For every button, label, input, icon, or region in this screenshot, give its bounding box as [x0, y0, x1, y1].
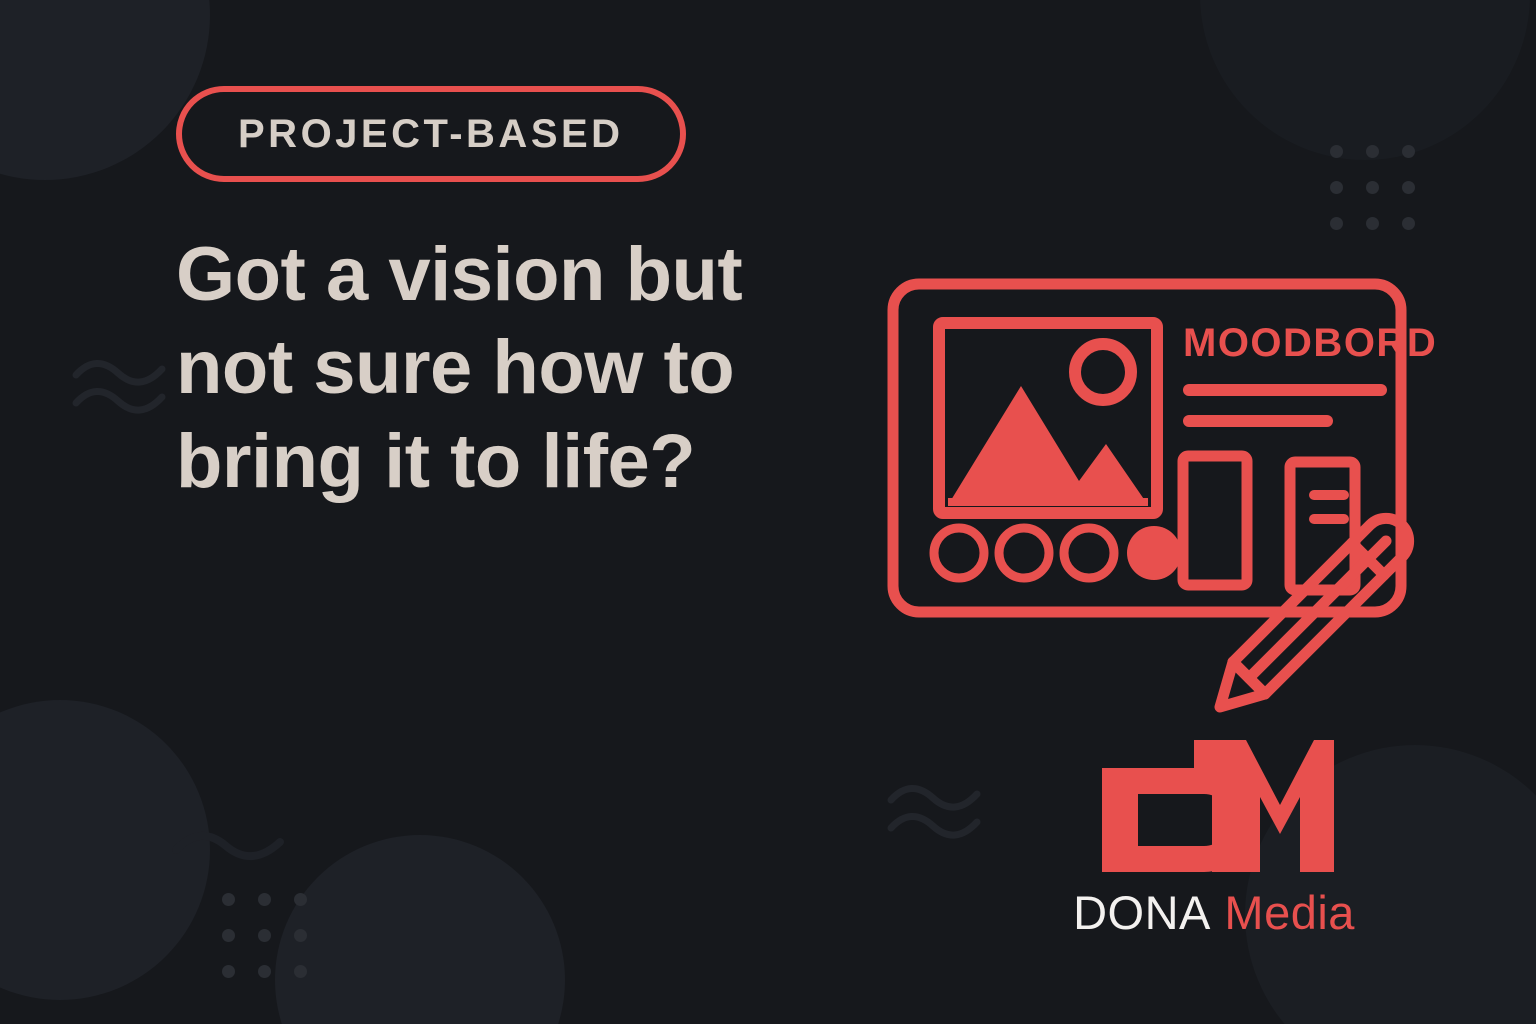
decor-circle-bottom-center [275, 835, 565, 1024]
project-based-badge[interactable]: PROJECT-BASED [176, 86, 686, 182]
text-line-group [1183, 384, 1387, 427]
copy-column: PROJECT-BASED Got a vision but not sure … [176, 86, 856, 508]
swatch-filled-4 [1127, 526, 1181, 580]
brand-block: DONA Media [1014, 735, 1414, 936]
dot-grid-bottom-left [222, 893, 304, 975]
headline-text: Got a vision but not sure how to bring i… [176, 228, 836, 508]
swatch-outline-3 [1064, 528, 1114, 578]
text-line-2 [1183, 415, 1333, 427]
poster-canvas: PROJECT-BASED Got a vision but not sure … [0, 0, 1536, 1024]
moodboard-illustration: MOODBORD [884, 262, 1444, 722]
brand-wordmark: DONA Media [1014, 889, 1414, 936]
decor-circle-bottom-left [0, 700, 210, 1000]
wave-lines-bottom-icon [885, 780, 995, 850]
brand-name-primary: DONA [1073, 886, 1211, 939]
dm-monogram-icon [1094, 735, 1334, 875]
decor-circle-top-right [1200, 0, 1530, 160]
badge-label: PROJECT-BASED [238, 114, 624, 154]
brand-name-secondary: Media [1224, 886, 1355, 939]
wave-lines-mid-icon [170, 820, 290, 870]
swatch-outline-2 [999, 528, 1049, 578]
moodboard-label: MOODBORD [1183, 321, 1437, 365]
text-line-1 [1183, 384, 1387, 396]
panel-left [1183, 456, 1247, 585]
wave-lines-left-icon [70, 355, 180, 425]
dot-grid-top-right [1330, 145, 1412, 227]
image-placeholder-icon [939, 323, 1157, 513]
color-swatch-row [934, 526, 1181, 580]
swatch-outline-1 [934, 528, 984, 578]
